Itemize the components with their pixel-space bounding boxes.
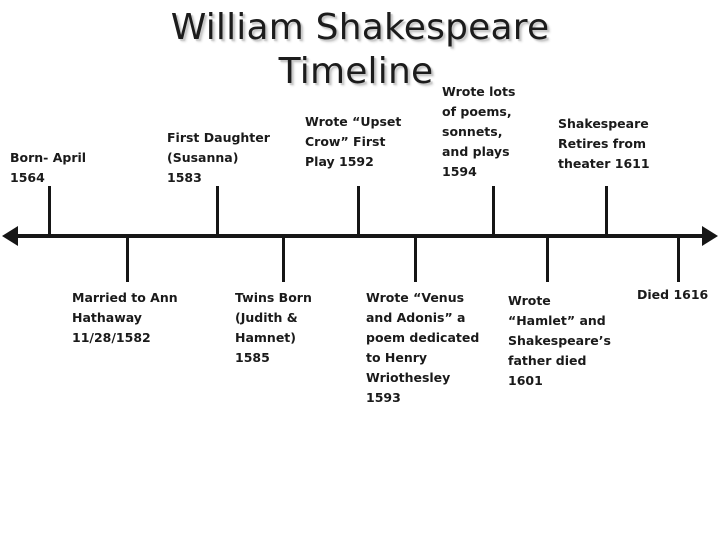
tick-mark-first-daughter <box>216 186 219 236</box>
arrow-left-icon <box>2 226 18 246</box>
tick-mark-poems-sonnets-plays <box>492 186 495 236</box>
tick-mark-upset-crow <box>357 186 360 236</box>
page-title: William Shakespeare Timeline <box>0 6 720 94</box>
event-label-upset-crow: Wrote “Upset Crow” First Play 1592 <box>305 112 401 172</box>
tick-mark-hamlet-father-died <box>546 237 549 282</box>
tick-mark-twins-born <box>282 237 285 282</box>
event-label-venus-and-adonis: Wrote “Venus and Adonis” a poem dedicate… <box>366 288 479 408</box>
page-title-line-1: William Shakespeare <box>0 6 720 50</box>
tick-mark-venus-and-adonis <box>414 237 417 282</box>
tick-mark-died <box>677 237 680 282</box>
event-label-born: Born- April 1564 <box>10 148 86 188</box>
event-label-poems-sonnets-plays: Wrote lots of poems, sonnets, and plays … <box>442 82 515 182</box>
page-title-line-2: Timeline <box>0 50 720 94</box>
event-label-hamlet-father-died: Wrote “Hamlet” and Shakespeare’s father … <box>508 291 611 391</box>
event-label-twins-born: Twins Born (Judith & Hamnet) 1585 <box>235 288 312 368</box>
arrow-right-icon <box>702 226 718 246</box>
event-label-married: Married to Ann Hathaway 11/28/1582 <box>72 288 178 348</box>
event-label-retires: Shakespeare Retires from theater 1611 <box>558 114 650 174</box>
tick-mark-retires <box>605 186 608 236</box>
tick-mark-born <box>48 186 51 236</box>
event-label-died: Died 1616 <box>637 285 708 305</box>
event-label-first-daughter: First Daughter (Susanna) 1583 <box>167 128 270 188</box>
timeline-canvas: William Shakespeare Timeline Born- April… <box>0 0 720 539</box>
tick-mark-married <box>126 237 129 282</box>
